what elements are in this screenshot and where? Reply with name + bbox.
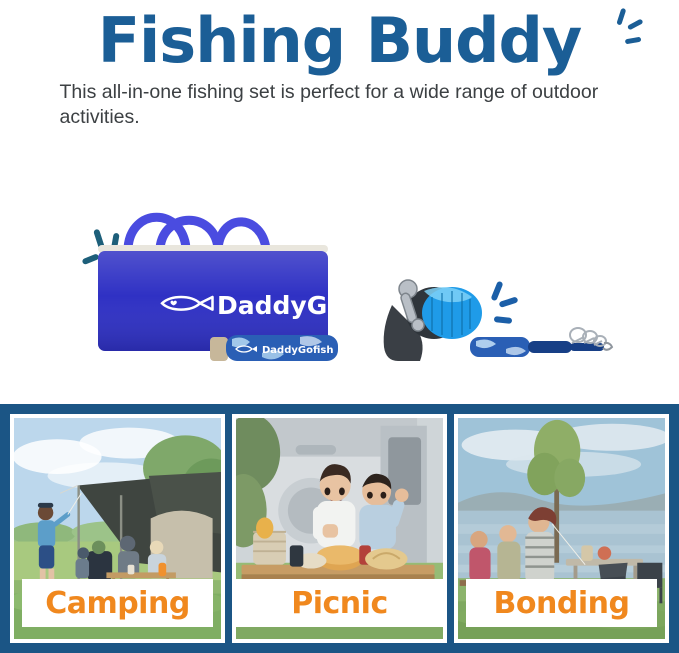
picnic-label-bar: Picnic	[236, 579, 443, 627]
bag-brand-text: DaddyGofish	[217, 291, 396, 320]
title-block: Fishing Buddy	[0, 0, 679, 74]
rod-grip-left: DaddyGofish	[210, 335, 338, 361]
svg-text:DaddyGofish: DaddyGofish	[262, 345, 333, 356]
bonding-label-bar: Bonding	[466, 579, 657, 627]
camping-label-bar: Camping	[22, 579, 213, 627]
product-image: DaddyGofish DaddyGofish	[0, 185, 679, 400]
product-illustration: DaddyGofish DaddyGofish	[0, 185, 679, 400]
usage-cards: Camping	[10, 414, 669, 643]
fishing-reel	[384, 280, 482, 361]
hero-section: Fishing Buddy This all-in-one fishing se…	[0, 0, 679, 404]
picnic-label: Picnic	[291, 586, 387, 621]
usage-band: Camping	[0, 404, 679, 653]
bag-handle	[128, 217, 218, 248]
reel-splash-icon	[490, 281, 518, 324]
page-title: Fishing Buddy	[0, 8, 679, 74]
sparkle-dashes-icon	[595, 2, 655, 62]
bag-handle-right	[218, 222, 266, 249]
rod-camo-right	[470, 337, 530, 357]
camping-label: Camping	[45, 586, 190, 621]
bonding-label: Bonding	[494, 586, 630, 621]
product-infographic: Fishing Buddy This all-in-one fishing se…	[0, 0, 679, 653]
usage-card-camping[interactable]: Camping	[10, 414, 225, 643]
usage-card-bonding[interactable]: Bonding	[454, 414, 669, 643]
page-subtitle: This all-in-one fishing set is perfect f…	[60, 80, 620, 130]
usage-card-picnic[interactable]: Picnic	[232, 414, 447, 643]
